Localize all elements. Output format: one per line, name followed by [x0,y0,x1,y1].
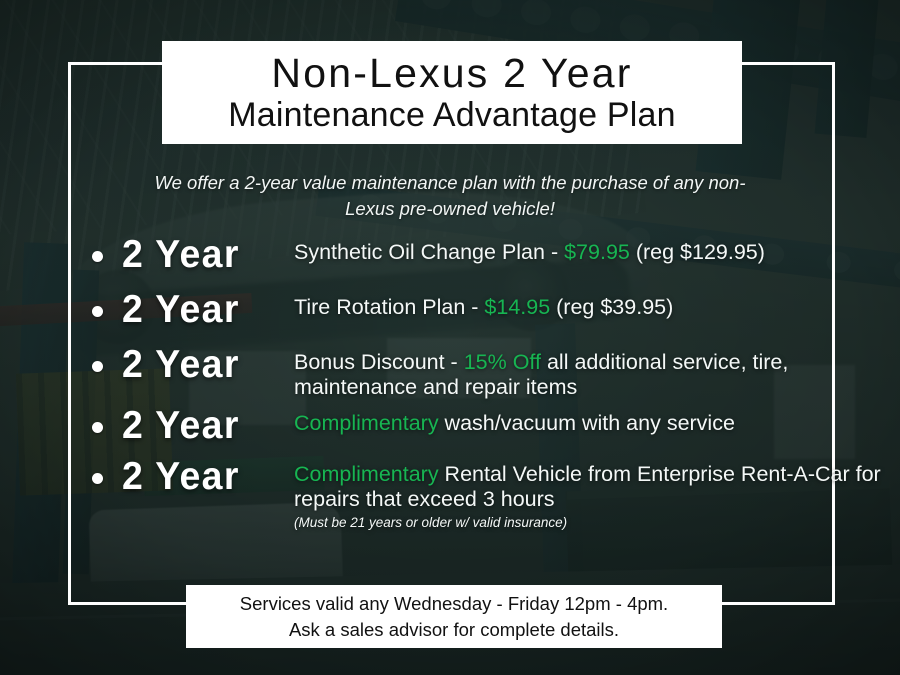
bullet-dot-icon [92,473,103,484]
footer-line-2: Ask a sales advisor for complete details… [289,617,619,643]
promotional-flyer: Non-Lexus 2 Year Maintenance Advantage P… [0,0,900,675]
bullet-dot-icon [92,422,103,433]
benefit-highlight: Complimentary [294,411,439,435]
list-item: 2 Year Complimentary Rental Vehicle from… [92,456,892,531]
benefit-term: 2 Year [122,234,287,276]
title-banner: Non-Lexus 2 Year Maintenance Advantage P… [162,41,742,144]
benefit-price: $14.95 [484,295,550,319]
benefit-description: Bonus Discount - 15% Off all additional … [294,344,892,399]
bullet-dot-icon [92,361,103,372]
footer-banner: Services valid any Wednesday - Friday 12… [186,585,722,648]
benefit-description: Complimentary Rental Vehicle from Enterp… [294,456,892,531]
benefit-text-pre: Bonus Discount - [294,350,464,374]
benefit-description: Complimentary wash/vacuum with any servi… [294,405,892,436]
bullet-dot-icon [92,306,103,317]
benefit-description: Tire Rotation Plan - $14.95 (reg $39.95) [294,289,892,320]
benefit-list: 2 Year Synthetic Oil Change Plan - $79.9… [92,234,892,543]
benefit-discount: 15% Off [464,350,541,374]
benefit-term: 2 Year [122,289,287,331]
benefit-text-post: wash/vacuum with any service [439,411,735,435]
flyer-content: Non-Lexus 2 Year Maintenance Advantage P… [0,0,900,675]
benefit-price: $79.95 [564,240,630,264]
benefit-fine-print: (Must be 21 years or older w/ valid insu… [294,515,892,532]
title-line-2: Maintenance Advantage Plan [228,97,676,134]
benefit-term: 2 Year [122,405,287,447]
list-item: 2 Year Bonus Discount - 15% Off all addi… [92,344,892,399]
list-item: 2 Year Tire Rotation Plan - $14.95 (reg … [92,289,892,333]
benefit-text-post: (reg $129.95) [630,240,765,264]
subtitle-text: We offer a 2-year value maintenance plan… [0,170,900,223]
footer-line-1: Services valid any Wednesday - Friday 12… [240,591,668,617]
benefit-term: 2 Year [122,456,287,498]
benefit-text-pre: Synthetic Oil Change Plan - [294,240,564,264]
bullet-dot-icon [92,251,103,262]
benefit-text-post: (reg $39.95) [550,295,673,319]
title-line-1: Non-Lexus 2 Year [271,53,632,95]
benefit-highlight: Complimentary [294,462,439,486]
list-item: 2 Year Synthetic Oil Change Plan - $79.9… [92,234,892,278]
benefit-text-pre: Tire Rotation Plan - [294,295,484,319]
list-item: 2 Year Complimentary wash/vacuum with an… [92,405,892,449]
benefit-description: Synthetic Oil Change Plan - $79.95 (reg … [294,234,892,265]
benefit-term: 2 Year [122,344,287,386]
